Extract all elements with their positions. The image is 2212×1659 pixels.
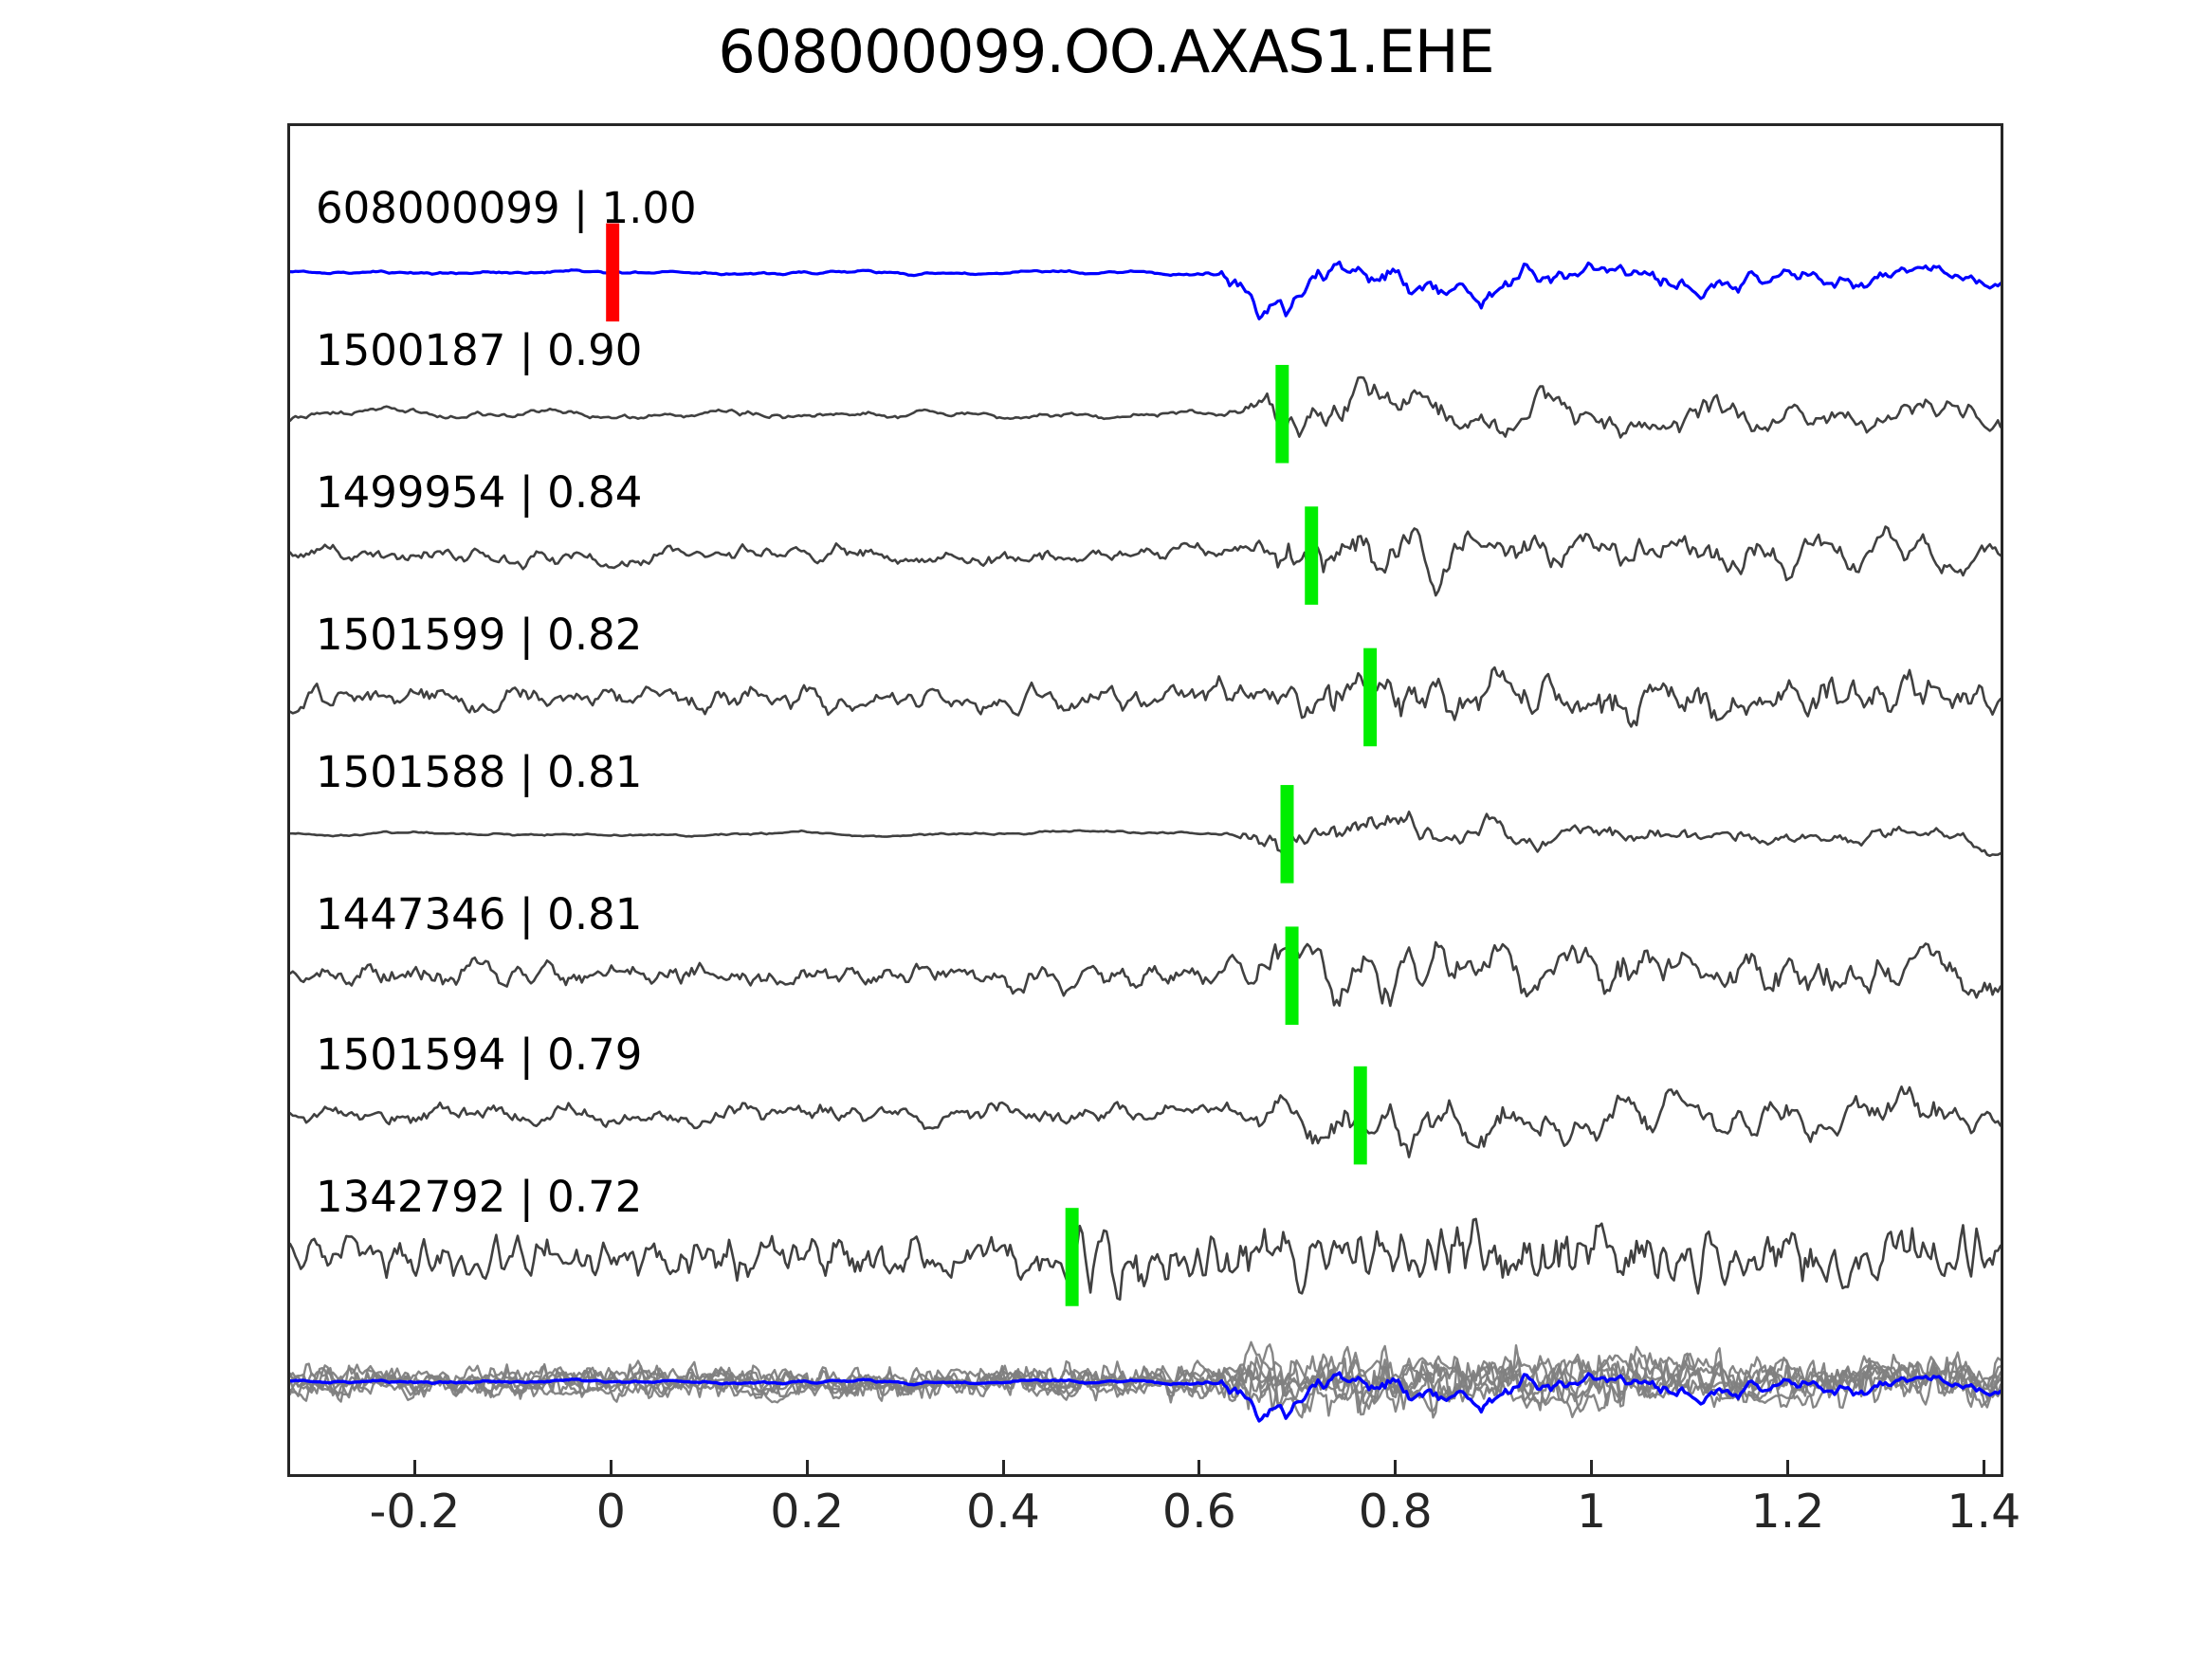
trace-label-1342792: 1342792 | 0.72 (316, 1172, 642, 1222)
trace-label-608000099: 608000099 | 1.00 (316, 183, 697, 233)
x-tick-label: 0.6 (1162, 1485, 1236, 1539)
trace-label-1499954: 1499954 | 0.84 (316, 467, 642, 518)
x-tick-mark (610, 1460, 612, 1477)
trace-label-1501588: 1501588 | 0.81 (316, 747, 642, 797)
x-tick-label: 1.2 (1750, 1485, 1824, 1539)
x-tick-mark (1590, 1460, 1593, 1477)
trace-group-1501588 (290, 785, 2001, 884)
pick-marker-1447346[interactable] (1286, 926, 1299, 1025)
x-tick-mark (1983, 1460, 1985, 1477)
figure-root: 608000099.OO.AXAS1.EHE 608000099 | 1.001… (0, 0, 2212, 1659)
waveform-608000099 (290, 262, 2001, 319)
overlay-panel (290, 1342, 2001, 1421)
trace-group-608000099 (290, 224, 2001, 322)
pick-marker-1501588[interactable] (1281, 785, 1294, 884)
trace-label-1500187: 1500187 | 0.90 (316, 325, 642, 375)
x-tick-label: 1 (1577, 1485, 1606, 1539)
x-tick-label: 0.4 (966, 1485, 1040, 1539)
x-tick-mark (806, 1460, 809, 1477)
x-tick-label: 0.2 (770, 1485, 844, 1539)
pick-marker-1501594[interactable] (1354, 1066, 1367, 1165)
trace-group-1501599 (290, 648, 2001, 747)
trace-label-1501594: 1501594 | 0.79 (316, 1030, 642, 1080)
trace-group-1342792 (290, 1208, 2001, 1306)
waveform-1499954 (290, 527, 2001, 596)
x-axis: -0.200.20.40.60.811.21.4 (287, 1477, 2003, 1562)
x-tick-label: 1.4 (1947, 1485, 2020, 1539)
pick-marker-608000099[interactable] (606, 224, 619, 322)
trace-label-1447346: 1447346 | 0.81 (316, 889, 642, 939)
x-tick-mark (1394, 1460, 1397, 1477)
trace-group-1499954 (290, 506, 2001, 605)
trace-group-1501594 (290, 1066, 2001, 1165)
x-tick-label: 0 (596, 1485, 626, 1539)
x-tick-mark (1197, 1460, 1200, 1477)
waveform-1501594 (290, 1086, 2001, 1157)
x-tick-label: 0.8 (1359, 1485, 1433, 1539)
trace-group-1500187 (290, 365, 2001, 464)
pick-marker-1501599[interactable] (1363, 648, 1377, 747)
waveform-1501588 (290, 811, 2001, 855)
x-tick-mark (1786, 1460, 1789, 1477)
waveform-1447346 (290, 942, 2001, 1006)
trace-label-1501599: 1501599 | 0.82 (316, 610, 642, 660)
pick-marker-1499954[interactable] (1305, 506, 1318, 605)
x-tick-mark (413, 1460, 416, 1477)
x-tick-label: -0.2 (370, 1485, 461, 1539)
waveform-1501599 (290, 667, 2001, 726)
x-tick-mark (1002, 1460, 1005, 1477)
waveform-1342792 (290, 1219, 2001, 1300)
pick-marker-1500187[interactable] (1275, 365, 1289, 464)
pick-marker-1342792[interactable] (1066, 1208, 1079, 1306)
page-title: 608000099.OO.AXAS1.EHE (0, 17, 2212, 86)
waveform-1500187 (290, 377, 2001, 437)
trace-group-1447346 (290, 926, 2001, 1025)
